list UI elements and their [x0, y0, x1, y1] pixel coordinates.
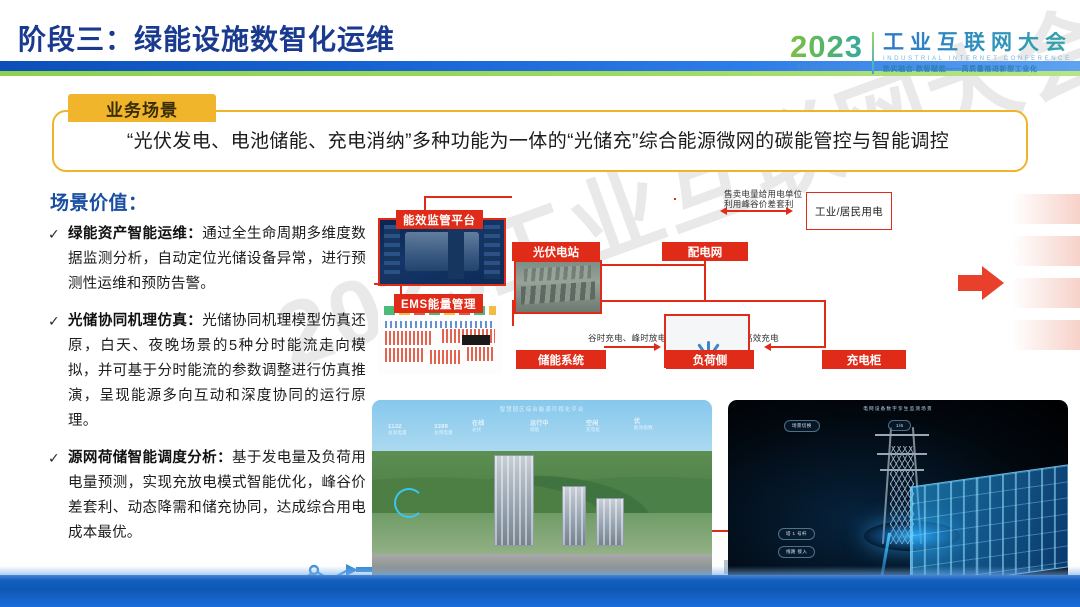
hud-metric: 优 能效指数: [634, 416, 653, 431]
logo-name-en: INDUSTRIAL INTERNET CONFERENCE: [883, 56, 1072, 62]
benefit-arrow-icon: [958, 266, 1004, 300]
energy-flow-diagram: 谷时充电、峰时放电 高效充电 售卖电量给用电单位 利用峰谷价差套利 能效监管平台…: [372, 186, 1072, 392]
node-consumer[interactable]: 工业/居民用电: [806, 192, 892, 230]
node-label-ems-energy: EMS能量管理: [394, 294, 483, 313]
logo-year-block: 2023 中国·泉州 9月14日-16日: [790, 32, 872, 71]
bullet-lead: 光储协同机理仿真：: [68, 313, 202, 329]
value-bullet-list: ✓ 绿能资产智能运维：通过全生命周期多维度数据监测分析，自动定位光储设备异常，进…: [48, 222, 366, 558]
tower-crossarm: [877, 453, 927, 455]
node-label-storage: 储能系统: [516, 350, 606, 369]
hud-metric-label: 充电桩: [586, 427, 600, 432]
logo-year-sub: 中国·泉州 9月14日-16日: [790, 64, 863, 71]
dashboard-sidebar-decor: [484, 225, 500, 279]
slide-root: 2023工业互联网大会 阶段三：绿能设施数智化运维 2023 中国·泉州 9月1…: [0, 0, 1080, 607]
flow-label-arbitrage: 利用峰谷价差套利: [724, 198, 794, 210]
check-icon: ✓: [48, 222, 68, 297]
check-icon: ✓: [48, 446, 68, 546]
flow-label-storage-load: 谷时充电、峰时放电: [588, 332, 666, 344]
benefit-bar: 电费节约: [1012, 194, 1080, 224]
hud-metric: 1132 总发电量: [388, 424, 407, 436]
benefit-bar: 电费折扣: [1012, 236, 1080, 266]
footer-band: [0, 575, 1080, 607]
hud-metric-label: 总发电量: [388, 430, 407, 435]
connector-line: [424, 196, 512, 198]
flow-arrow-icon: [764, 343, 771, 351]
hud-metric: 空闲 充电桩: [586, 418, 600, 433]
building-decor: [562, 486, 586, 547]
flow-arrow-icon: [654, 343, 661, 351]
hud-metric-label: 总用电量: [434, 430, 453, 435]
connector-line: [604, 346, 656, 348]
list-item: ✓ 光储协同机理仿真：光储协同机理模型仿真还原，白天、夜晚场景的5种分时能流走向…: [48, 309, 366, 434]
connector-line: [704, 264, 706, 302]
connector-line: [726, 210, 788, 212]
connector-line: [824, 300, 826, 348]
page-title: 阶段三：绿能设施数智化运维: [18, 18, 395, 58]
benefit-bar: 供电可靠: [1012, 320, 1080, 350]
bullet-lead: 源网荷储智能调度分析：: [68, 450, 232, 466]
node-label-distribution: 配电网: [662, 242, 748, 261]
node-label-load: 负荷侧: [666, 350, 754, 369]
chart-decor: [385, 331, 432, 345]
building-decor: [596, 498, 624, 547]
page-indicator-pill: 1/6: [888, 420, 911, 431]
arrow-shaft: [958, 275, 984, 291]
tower-label-pill: 塔 1 号杆: [778, 528, 815, 540]
hud-metric-value: 运行中: [530, 418, 549, 427]
line-label-pill: 线路 接入: [778, 546, 815, 558]
panel-right-title: 电网设备数字孪生监测场景: [728, 406, 1068, 412]
logo-name-cn: 工业互联网大会: [883, 32, 1072, 54]
check-icon: ✓: [48, 309, 68, 434]
scene-description: “光伏发电、电池储能、充电消纳”多种功能为一体的“光储充”综合能源微网的碳能管控…: [52, 110, 1024, 168]
list-item: ✓ 源网荷储智能调度分析：基于发电量及负荷用电量预测，实现充放电模式智能优化，峰…: [48, 446, 366, 546]
connector-line: [674, 198, 676, 200]
chart-decor: [462, 335, 489, 345]
connector-line: [770, 346, 826, 348]
logo-year: 2023: [790, 32, 863, 61]
hud-metric: 3389 总用电量: [434, 424, 453, 436]
panel-left-title: 智慧园区综合能源可视化平台: [372, 405, 712, 413]
hud-metric-label: 能效指数: [634, 425, 653, 430]
bullet-text: 光储协同机理仿真：光储协同机理模型仿真还原，白天、夜晚场景的5种分时能流走向模拟…: [68, 309, 366, 434]
tower-crossarm: [875, 434, 929, 436]
hud-metric: 在线 光伏: [472, 418, 484, 433]
hud-metric-value: 空闲: [586, 418, 600, 427]
hud-metric-value: 优: [634, 416, 653, 425]
logo-name-block: 工业互联网大会 INDUSTRIAL INTERNET CONFERENCE 数…: [883, 32, 1072, 74]
list-item: ✓ 绿能资产智能运维：通过全生命周期多维度数据监测分析，自动定位光储设备异常，进…: [48, 222, 366, 297]
gauge-icon: [394, 488, 424, 518]
connector-line: [704, 300, 826, 302]
benefit-bar-list: 电费节约 电费折扣 峰谷套利 供电可靠: [1012, 194, 1080, 362]
value-section-title: 场景价值：: [50, 188, 148, 215]
tower-crossarm: [880, 469, 924, 471]
node-label-charger: 充电柜: [822, 350, 906, 369]
node-label-pv-station: 光伏电站: [512, 242, 600, 261]
chart-decor: [385, 348, 422, 362]
benefit-bar: 峰谷套利: [1012, 278, 1080, 308]
logo-divider: [872, 32, 874, 74]
bullet-lead: 绿能资产智能运维：: [68, 226, 202, 242]
hud-metric-value: 在线: [472, 418, 484, 427]
arrow-head: [982, 266, 1004, 300]
logo-slogan: 数实融合 数智赋能——高质量推进新型工业化: [883, 64, 1072, 74]
building-decor: [494, 455, 534, 547]
hud-metric-label: 储能: [530, 427, 539, 432]
node-pv-station[interactable]: [514, 260, 602, 314]
bullet-body: 光储协同机理模型仿真还原，白天、夜晚场景的5种分时能流走向模拟，并可基于分时能流…: [68, 313, 366, 429]
chart-decor: [467, 347, 494, 361]
node-label-ems-monitor: 能效监管平台: [396, 210, 483, 229]
hud-metric-label: 光伏: [472, 427, 481, 432]
bullet-text: 绿能资产智能运维：通过全生命周期多维度数据监测分析，自动定位光储设备异常，进行预…: [68, 222, 366, 297]
chart-decor: [430, 350, 462, 364]
scene-switch-pill[interactable]: 场景切换: [784, 420, 820, 432]
chart-decor: [385, 321, 494, 328]
bullet-text: 源网荷储智能调度分析：基于发电量及负荷用电量预测，实现充放电模式智能优化，峰谷价…: [68, 446, 366, 546]
hud-metric: 运行中 储能: [530, 418, 549, 433]
conference-logo: 2023 中国·泉州 9月14日-16日 工业互联网大会 INDUSTRIAL …: [790, 32, 1072, 74]
